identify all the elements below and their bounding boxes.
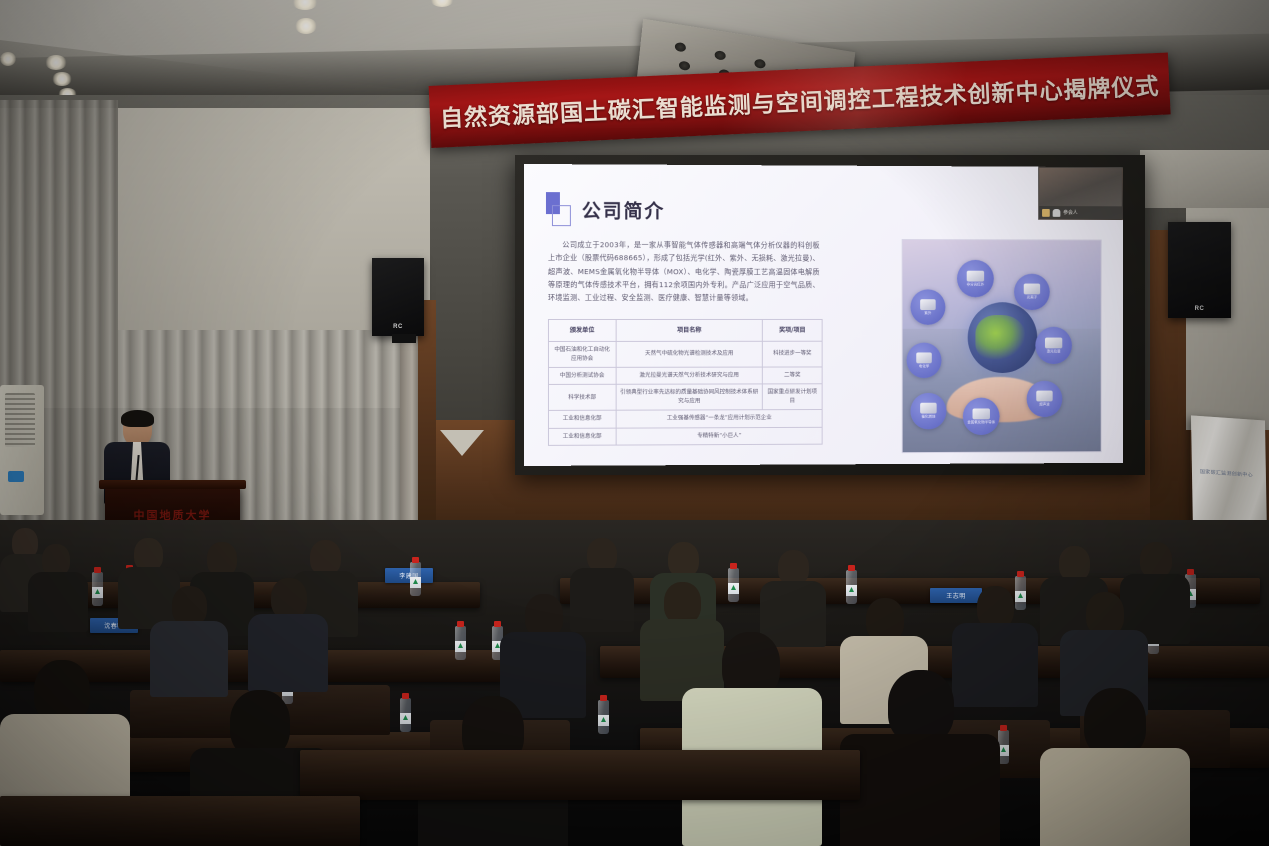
table-cell-org: 工业和信息化部 — [548, 428, 615, 446]
table-row: 中国石油和化工自动化应用协会 天然气中硫化物光谱检测技术及应用 科技进步一等奖 — [548, 342, 822, 368]
table-header-cell: 项目名称 — [616, 319, 763, 341]
ceiling-downlight — [0, 52, 16, 66]
participant-label: 参会人 — [1063, 209, 1077, 216]
speaker-brand-label: RC — [393, 324, 403, 330]
audience-body — [248, 614, 328, 692]
audience-member — [500, 594, 586, 710]
slide-title: 公司简介 — [582, 196, 665, 223]
audience-head — [271, 578, 307, 619]
audience-member — [150, 586, 228, 690]
table-cell-award: 国家重点研发计划项目 — [762, 384, 822, 410]
water-bottle — [598, 700, 609, 734]
sensor-node-label: 超声波 — [1039, 404, 1049, 408]
audience-body — [150, 621, 228, 697]
audience-head — [888, 670, 954, 744]
projection-screen: Cu 参会人 公司简介 公司成立于2003年，是一家从事智能气体传感器和高端气 — [524, 164, 1123, 466]
ceiling-downlight — [295, 18, 317, 34]
audience-head — [664, 582, 701, 624]
right-wall-upper — [1140, 150, 1269, 208]
sensor-node: 光离子 — [1014, 274, 1050, 310]
table-cell-org: 中国石油和化工自动化应用协会 — [548, 342, 615, 368]
podium-top-surface — [99, 480, 246, 489]
speaker-brand-label: RC — [1195, 306, 1205, 312]
sensor-node-label: 电化学 — [919, 365, 929, 369]
audience-body — [1040, 748, 1190, 846]
table-header-cell: 颁发单位 — [548, 319, 615, 341]
sensor-node: 金属氧化物半导体 — [963, 398, 1000, 436]
audience-member — [1040, 688, 1190, 846]
water-bottle — [728, 568, 739, 602]
meeting-thumbnail-bar: 参会人 — [1039, 206, 1122, 219]
audience-member — [248, 578, 328, 686]
title-accent-mark-icon — [546, 192, 572, 226]
sensor-node: 紫外 — [910, 289, 945, 325]
audience-head — [310, 540, 341, 575]
ceiling-downlight — [430, 0, 454, 7]
wall-v-notch — [440, 430, 484, 456]
desk-row-front — [0, 796, 360, 846]
audience-head — [207, 542, 237, 576]
table-cell-project: 工业强基传感器“一条龙”应用计划示范企业 — [616, 410, 822, 428]
table-cell-project: 激光拉曼光谱天然气分析技术研究与应用 — [616, 367, 763, 385]
audience-body — [28, 572, 88, 632]
wall-speaker-left: RC — [372, 258, 424, 336]
meeting-participant-thumbnail[interactable]: 参会人 — [1038, 167, 1123, 220]
table-cell-award: 二等奖 — [762, 367, 822, 384]
conference-hall-photo: 自然资源部国土碳汇智能监测与空间调控工程技术创新中心揭牌仪式 Cu 参会人 — [0, 0, 1269, 846]
awards-table: 颁发单位 项目名称 奖项/项目 中国石油和化工自动化应用协会 天然气中硫化物光谱… — [548, 319, 823, 446]
audience-head — [172, 586, 207, 626]
presentation-slide: Cu 参会人 公司简介 公司成立于2003年，是一家从事智能气体传感器和高端气 — [524, 164, 1123, 466]
speaker-bracket — [392, 334, 416, 343]
sensor-node-label: 光离子 — [1027, 297, 1037, 301]
audience-member — [682, 632, 822, 842]
table-row: 工业和信息化部 工业强基传感器“一条龙”应用计划示范企业 — [548, 410, 822, 428]
table-row: 工业和信息化部 专精特新“小巨人” — [548, 427, 822, 445]
water-bottle — [455, 626, 466, 660]
sensor-node-label: 激光拉曼 — [1047, 350, 1061, 354]
sensor-node-label: 金属氧化物半导体 — [967, 421, 995, 425]
table-row: 中国分析测试协会 激光拉曼光谱天然气分析技术研究与应用 二等奖 — [548, 367, 822, 385]
sensor-node: 催化燃烧 — [910, 393, 946, 430]
poster-text: 国家碳汇监测创新中心 — [1200, 468, 1262, 480]
table-cell-project: 引领典型行业率先达标的质量基础协同风控制技术体系研究与应用 — [616, 384, 763, 410]
audience-head — [668, 542, 699, 577]
table-cell-project: 专精特新“小巨人” — [616, 427, 822, 445]
participant-icon — [1042, 208, 1050, 216]
air-conditioner-unit — [0, 385, 44, 515]
water-bottle — [400, 698, 411, 732]
ac-vent-grille — [5, 393, 35, 447]
slide-title-group: 公司简介 — [546, 192, 665, 226]
water-bottle — [410, 562, 421, 596]
audience-head — [1140, 542, 1172, 578]
slide-figure-sensor-globe: 紫外 非分光红外 光离子 激光拉曼 — [902, 239, 1102, 453]
audience-area: 沈春叶 李建国 王志明 — [0, 520, 1269, 846]
name-placard: 李建国 — [385, 568, 433, 583]
audience-member — [840, 670, 1000, 846]
table-cell-org: 中国分析测试协会 — [548, 367, 615, 384]
wall-speaker-right: RC — [1168, 222, 1231, 318]
table-row: 科学技术部 引领典型行业率先达标的质量基础协同风控制技术体系研究与应用 国家重点… — [548, 384, 822, 410]
presenter-hair — [121, 410, 154, 427]
desk-row-front — [300, 750, 860, 800]
sensor-node: 非分光红外 — [957, 260, 994, 297]
sensor-node: 激光拉曼 — [1035, 327, 1072, 364]
audience-body — [840, 734, 1000, 846]
audience-head — [778, 550, 809, 585]
table-cell-award: 科技进步一等奖 — [762, 342, 822, 368]
table-header-row: 颁发单位 项目名称 奖项/项目 — [548, 319, 822, 341]
table-cell-org: 科学技术部 — [548, 385, 615, 411]
sensor-node-label: 催化燃烧 — [921, 416, 935, 420]
audience-head — [1059, 546, 1090, 581]
audience-head — [587, 538, 617, 572]
sensor-node-label: 非分光红外 — [967, 283, 984, 287]
ceiling-downlight — [52, 72, 72, 86]
sensor-node-label: 紫外 — [924, 312, 931, 316]
globe-graphic-icon — [967, 302, 1037, 373]
table-cell-org: 工业和信息化部 — [548, 410, 615, 428]
audience-member — [28, 544, 88, 628]
projection-screen-frame: Cu 参会人 公司简介 公司成立于2003年，是一家从事智能气体传感器和高端气 — [515, 155, 1145, 475]
table-header-cell: 奖项/项目 — [762, 319, 822, 341]
microphone-icon — [1053, 209, 1061, 217]
slide-body-text: 公司成立于2003年，是一家从事智能气体传感器和高端气体分析仪器的科创板上市企业… — [548, 238, 820, 305]
audience-member — [760, 550, 826, 640]
table-cell-project: 天然气中硫化物光谱检测技术及应用 — [616, 342, 763, 368]
water-bottle — [92, 572, 103, 606]
ceiling-downlight — [292, 0, 318, 10]
ac-brand-badge — [8, 471, 24, 482]
sensor-node: 超声波 — [1027, 381, 1063, 417]
ceiling-downlight — [45, 55, 67, 70]
sensor-node: 电化学 — [907, 343, 942, 379]
